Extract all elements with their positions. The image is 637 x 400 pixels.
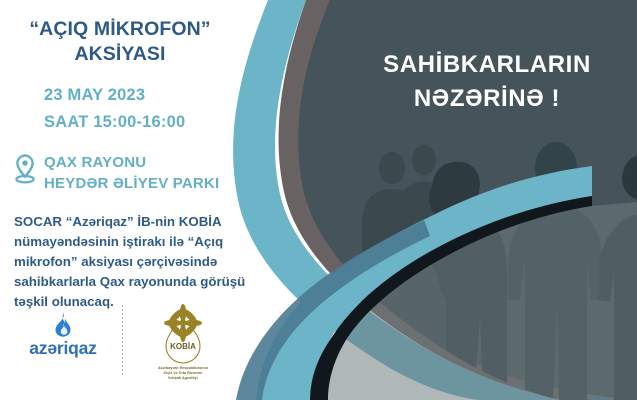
kobia-caption-line-3: İnkişafı Agentliyi <box>135 376 231 381</box>
logo-divider <box>122 305 123 377</box>
left-content-column: “AÇIQ MİKROFON” AKSİYASI 23 MAY 2023 SAA… <box>0 0 300 400</box>
kobia-mark-text: KOBİA <box>170 342 196 351</box>
poster: “AÇIQ MİKROFON” AKSİYASI 23 MAY 2023 SAA… <box>0 0 637 400</box>
venue-text: QAX RAYONU HEYDƏR ƏLİYEV PARKI <box>44 152 219 195</box>
event-description: SOCAR “Azəriqaz” İB-nin KOBİA nümayəndəs… <box>14 212 282 312</box>
azeriqaz-wordmark: azəriqaz <box>14 340 112 358</box>
event-time: SAAT 15:00-16:00 <box>44 109 185 136</box>
venue-line-1: QAX RAYONU <box>44 152 219 173</box>
event-venue: QAX RAYONU HEYDƏR ƏLİYEV PARKI <box>14 152 219 195</box>
poster-title: “AÇIQ MİKROFON” AKSİYASI <box>0 17 240 67</box>
venue-line-2: HEYDƏR ƏLİYEV PARKI <box>44 173 219 194</box>
title-line-2: AKSİYASI <box>0 42 240 67</box>
flame-icon <box>50 311 76 337</box>
azeriqaz-logo: azəriqaz <box>14 303 112 358</box>
headline-line-2: NƏZƏRİNƏ ! <box>351 82 623 116</box>
kobia-logo: KOBİA Azərbaycan Respublikasının Kiçik v… <box>135 303 231 381</box>
headline: SAHİBKARLARIN NƏZƏRİNƏ ! <box>351 48 623 116</box>
flower-teardrop-icon: KOBİA <box>152 303 214 365</box>
event-datetime: 23 MAY 2023 SAAT 15:00-16:00 <box>44 82 185 135</box>
location-pin-icon <box>14 154 36 184</box>
event-date: 23 MAY 2023 <box>44 82 185 109</box>
logo-row: azəriqaz <box>14 303 231 381</box>
title-line-1: “AÇIQ MİKROFON” <box>0 17 240 42</box>
headline-line-1: SAHİBKARLARIN <box>351 48 623 82</box>
kobia-caption: Azərbaycan Respublikasının Kiçik və Orta… <box>135 366 231 381</box>
